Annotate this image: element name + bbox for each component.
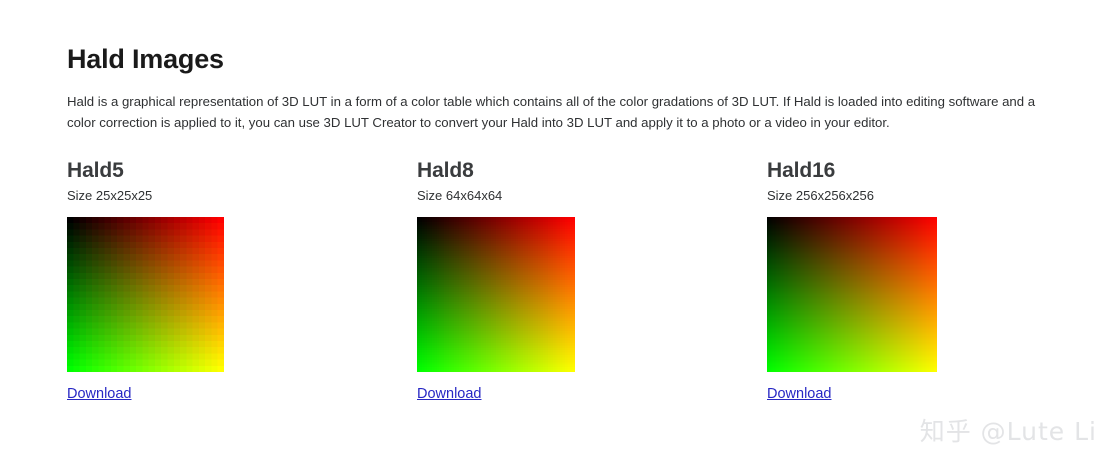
hald-card-title: Hald16 <box>767 158 937 184</box>
hald-card-title: Hald8 <box>417 158 575 184</box>
hald-image-wrapper <box>67 217 224 372</box>
page-title: Hald Images <box>67 42 224 76</box>
hald-card-size: Size 256x256x256 <box>767 187 937 205</box>
hald-card-hald8: Hald8 Size 64x64x64 Download <box>417 158 575 404</box>
hald-card-size: Size 64x64x64 <box>417 187 575 205</box>
download-link-hald5[interactable]: Download <box>67 384 132 404</box>
hald-image-hald8 <box>417 217 575 372</box>
hald-image-hald5 <box>67 217 224 372</box>
hald-card-hald16: Hald16 Size 256x256x256 Download <box>767 158 937 404</box>
hald-image-hald16 <box>767 217 937 372</box>
download-link-hald8[interactable]: Download <box>417 384 482 404</box>
intro-paragraph: Hald is a graphical representation of 3D… <box>67 91 1067 133</box>
hald-image-wrapper <box>417 217 575 372</box>
download-link-hald16[interactable]: Download <box>767 384 832 404</box>
hald-card-size: Size 25x25x25 <box>67 187 224 205</box>
hald-images-page: Hald Images Hald is a graphical represen… <box>0 0 1115 462</box>
hald-card-title: Hald5 <box>67 158 224 184</box>
hald-image-wrapper <box>767 217 937 372</box>
hald-card-hald5: Hald5 Size 25x25x25 Download <box>67 158 224 404</box>
watermark: 知乎 @Lute Li <box>920 412 1097 448</box>
